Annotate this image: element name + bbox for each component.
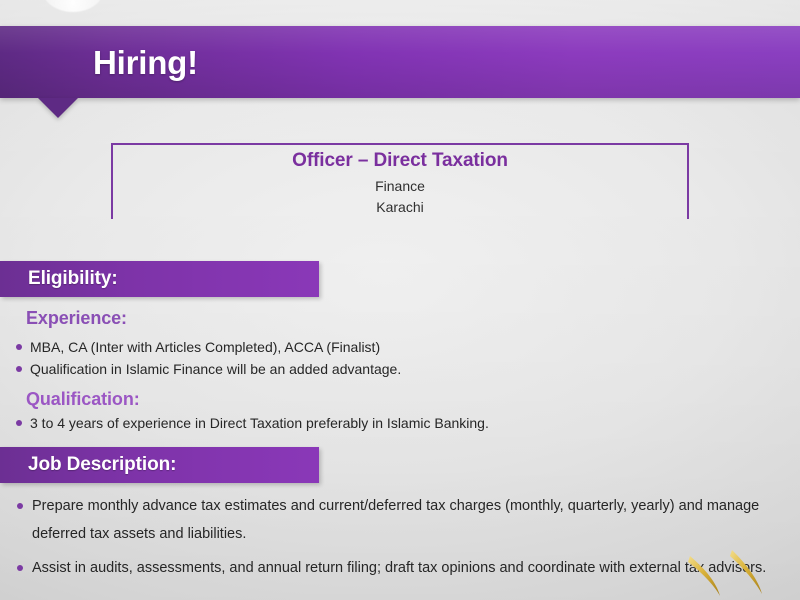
section-banner-job-description: Job Description:	[0, 447, 319, 483]
job-department: Finance	[113, 178, 687, 194]
header-tail-pointer-icon	[38, 98, 78, 118]
page-title: Hiring!	[93, 44, 198, 82]
list-item: Qualification in Islamic Finance will be…	[12, 358, 401, 380]
section-banner-eligibility-label: Eligibility:	[28, 268, 118, 290]
top-arc-decoration	[42, 0, 104, 12]
list-item: 3 to 4 years of experience in Direct Tax…	[12, 412, 489, 434]
subheading-experience: Experience:	[26, 308, 127, 329]
job-title: Officer – Direct Taxation	[113, 150, 687, 172]
job-title-box: Officer – Direct Taxation Finance Karach…	[111, 143, 689, 219]
list-item: Assist in audits, assessments, and annua…	[12, 554, 772, 582]
job-description-list: Prepare monthly advance tax estimates an…	[12, 492, 772, 588]
qualification-list: 3 to 4 years of experience in Direct Tax…	[12, 412, 489, 434]
job-location: Karachi	[113, 199, 687, 215]
hiring-poster: Hiring! Officer – Direct Taxation Financ…	[0, 0, 800, 600]
section-banner-eligibility: Eligibility:	[0, 261, 319, 297]
list-item: MBA, CA (Inter with Articles Completed),…	[12, 336, 401, 358]
section-banner-job-description-label: Job Description:	[28, 454, 176, 476]
experience-list: MBA, CA (Inter with Articles Completed),…	[12, 336, 401, 380]
list-item: Prepare monthly advance tax estimates an…	[12, 492, 772, 548]
subheading-qualification: Qualification:	[26, 389, 140, 410]
